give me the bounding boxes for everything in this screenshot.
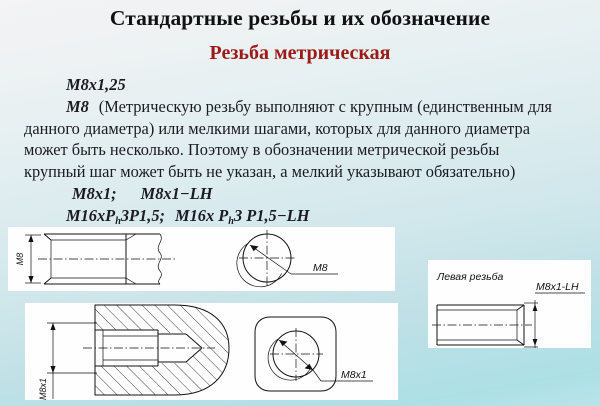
shaft-thread-label: M8 [15, 253, 25, 266]
m16-b-lead-symbol: P [218, 206, 228, 225]
face-view-thread-label: M8x1 [341, 369, 367, 381]
body-text-block: M8x1,25 M8(Метрическую резьбу выполняют … [24, 74, 582, 228]
sectioned-part [85, 303, 245, 400]
left-hand-thread-caption: Левая резьба [436, 271, 504, 283]
example-m8x1: M8x1; [72, 184, 117, 203]
example-m8x1-lh: M8x1−LH [141, 184, 213, 203]
hole-thread-label: M8x1 [38, 378, 48, 400]
explanation-paragraph: M8(Метрическую резьбу выполняют с крупны… [24, 96, 582, 183]
left-hand-thread-svg: Левая резьба [428, 260, 591, 348]
m16-a-lead-symbol: P [105, 206, 115, 225]
paragraph-line-2: данного диаметра) или мелкими шагами, ко… [24, 118, 582, 140]
paragraph-line-3: может быть несколько. Поэтому в обозначе… [24, 139, 582, 161]
lh-dimension-label: M8x1-LH [536, 281, 579, 293]
paragraph-line-1: M8(Метрическую резьбу выполняют с крупны… [24, 96, 582, 118]
page-subtitle: Резьба метрическая [0, 42, 600, 65]
example-line-1: M8x1;M8x1−LH [24, 183, 582, 205]
example-m16-multistart-b: M16x Ph3 P1,5−LH [175, 206, 309, 225]
m16-b-prefix: M16x [175, 206, 214, 225]
internal-thread-svg: M8x1 [25, 303, 398, 400]
page-title: Стандартные резьбы и их обозначение [0, 6, 600, 31]
drawing-panel-external-thread: M8 [8, 227, 395, 291]
designation-m8x125: M8x1,25 [66, 75, 126, 94]
m16-a-prefix: M16x [66, 206, 105, 225]
m16-b-suffix: 3 P1,5−LH [234, 206, 310, 225]
lh-dimension-group [524, 293, 585, 348]
slide-root: Стандартные резьбы и их обозначение Резь… [0, 0, 600, 406]
hole-dimension-group [47, 323, 97, 399]
threaded-hole-face-view [255, 317, 336, 391]
external-thread-svg: M8 [8, 227, 395, 291]
paragraph-line-1-text: (Метрическую резьбу выполняют с крупным … [99, 97, 552, 116]
m16-a-suffix: 3P1,5; [121, 206, 165, 225]
paragraph-line-4: крупный шаг может быть не указан, а мелк… [24, 161, 582, 183]
drawing-panel-internal-thread: M8x1 [25, 303, 398, 400]
designation-line-1: M8x1,25 [24, 74, 582, 96]
end-view-thread-label: M8 [313, 262, 328, 274]
example-m16-multistart-a: M16xPh3P1,5; [66, 206, 165, 225]
designation-m8: M8 [66, 97, 89, 116]
example-line-2: M16xPh3P1,5;M16x Ph3 P1,5−LH [24, 205, 582, 228]
drawing-panel-left-hand-thread: Левая резьба [428, 260, 591, 348]
thread-end-view [237, 230, 295, 287]
